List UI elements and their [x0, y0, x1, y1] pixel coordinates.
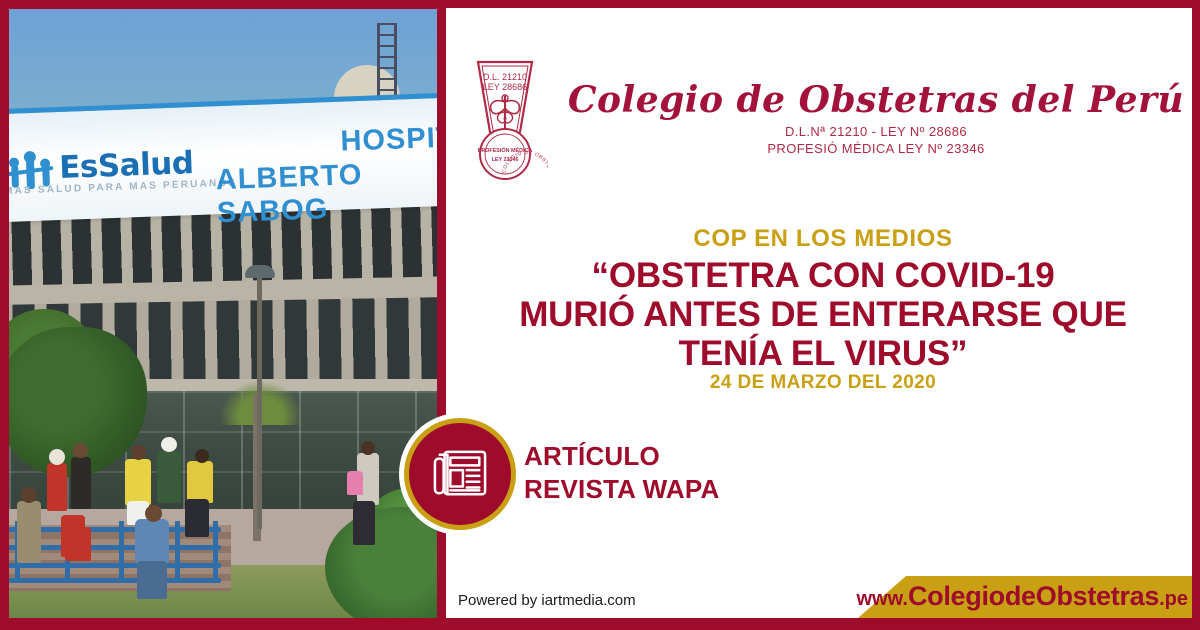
- lamp-head: [245, 265, 275, 278]
- lamp-post: [257, 269, 262, 529]
- news-poster: EsSalud MAS SALUD PARA MAS PERUANOS HOSP…: [0, 0, 1200, 630]
- logo-subtitle-1: D.L.Nª 21210 - LEY Nº 28686: [568, 124, 1184, 139]
- hospital-name: ALBERTO SABOG: [215, 156, 437, 230]
- organization-logo: D.L. 21210 LEY 28686 PROFESIÓN MÉDICA LE…: [446, 58, 1200, 184]
- logo-title: Colegio de Obstetras del Perú: [568, 82, 1184, 118]
- svg-text:D.L. 21210: D.L. 21210: [483, 72, 527, 82]
- headline-line-2: MURIÓ ANTES DE ENTERARSE QUE: [446, 295, 1200, 334]
- newspaper-icon: [431, 447, 489, 501]
- svg-text:PROFESIÓN MÉDICA: PROFESIÓN MÉDICA: [478, 146, 533, 154]
- headline-line-1: “OBSTETRA CON COVID-19: [446, 256, 1200, 295]
- dateline: 24 DE MARZO DEL 2020: [446, 372, 1200, 394]
- logo-subtitle-2: PROFESIÓ MÉDICA LEY Nº 23346: [568, 141, 1184, 156]
- kicker-text: COP EN LOS MEDIOS: [446, 225, 1200, 253]
- hospital-sign-band: EsSalud MAS SALUD PARA MAS PERUANOS HOSP…: [9, 93, 437, 222]
- svg-text:LEY 28686: LEY 28686: [483, 82, 527, 92]
- article-badge[interactable]: [404, 418, 516, 530]
- url-suffix: .pe: [1159, 588, 1188, 610]
- badge-label-line-1: ARTÍCULO: [524, 440, 719, 473]
- url-main: ColegiodeObstetras: [908, 581, 1159, 611]
- headline-line-3: TENÍA EL VIRUS”: [446, 334, 1200, 373]
- badge-label-line-2: REVISTA WAPA: [524, 473, 719, 506]
- cop-crest-icon: D.L. 21210 LEY 28686 PROFESIÓN MÉDICA LE…: [462, 58, 548, 184]
- content-panel: D.L. 21210 LEY 28686 PROFESIÓN MÉDICA LE…: [446, 0, 1200, 630]
- hospital-word: HOSPIT: [340, 122, 437, 159]
- bottom-border: [0, 618, 1200, 630]
- badge-label: ARTÍCULO REVISTA WAPA: [524, 440, 719, 505]
- photo-panel: EsSalud MAS SALUD PARA MAS PERUANOS HOSP…: [0, 0, 446, 630]
- top-border: [446, 0, 1200, 8]
- right-border: [1192, 0, 1200, 630]
- hospital-photo: EsSalud MAS SALUD PARA MAS PERUANOS HOSP…: [9, 9, 437, 621]
- headline: “OBSTETRA CON COVID-19 MURIÓ ANTES DE EN…: [446, 256, 1200, 374]
- website-url[interactable]: www.ColegiodeObstetras.pe: [446, 581, 1188, 612]
- url-prefix: www.: [856, 588, 907, 610]
